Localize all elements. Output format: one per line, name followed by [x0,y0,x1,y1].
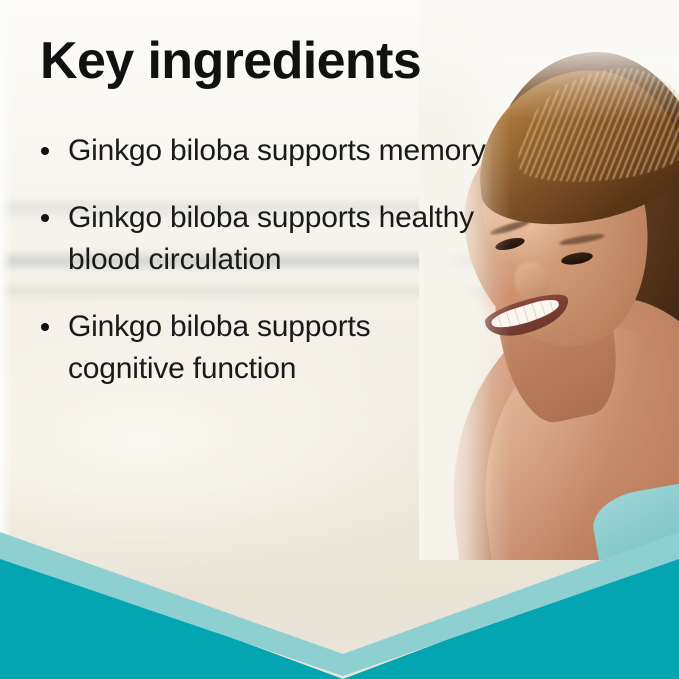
bullet-dot-icon [41,147,49,155]
bullet-dot-icon [41,214,49,222]
page-title: Key ingredients [40,34,421,89]
bullet-dot-icon [41,323,49,331]
list-item: Ginkgo biloba supports healthy blood cir… [38,197,488,280]
list-item-label: Ginkgo biloba supports memory [68,134,486,167]
list-item: Ginkgo biloba supports cognitive functio… [38,306,488,389]
chevron-svg [0,504,679,679]
list-item-label: Ginkgo biloba supports cognitive functio… [68,310,370,384]
ingredient-list: Ginkgo biloba supports memory Ginkgo bil… [38,130,488,389]
photo-top-fade [419,0,679,120]
key-ingredients-card: Key ingredients Ginkgo biloba supports m… [0,0,679,679]
left-light-band [0,0,12,540]
bottom-chevron-banner [0,504,679,679]
list-item: Ginkgo biloba supports memory [38,130,488,171]
list-item-label: Ginkgo biloba supports healthy blood cir… [68,201,474,275]
